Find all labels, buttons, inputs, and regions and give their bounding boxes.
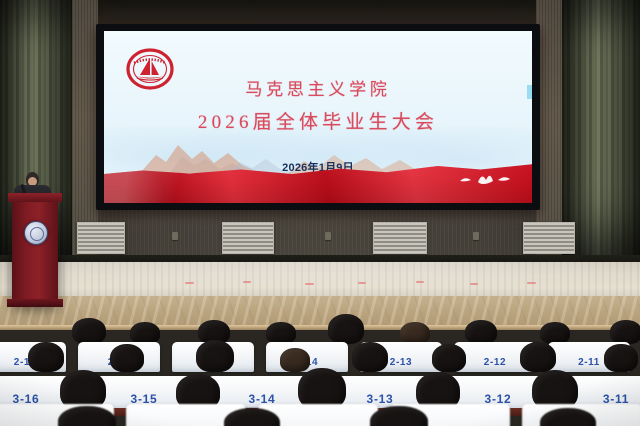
floor-tape-mark [185,282,194,284]
wall-vent [222,222,274,254]
floor-tape-mark [470,283,478,285]
podium [12,199,58,303]
wall-vent [77,222,125,254]
wall-vent [523,222,575,254]
slide-event-title: 2026届全体毕业生大会 [104,107,532,134]
audience-seating: 2-17 2-16 2-15 2-14 2-13 2-12 2-11 [0,300,640,426]
podium-crest-icon [24,221,48,245]
seat-row-foreground [0,404,640,426]
stage-floor [0,262,640,298]
podium-top [8,193,62,202]
screen-edge-glow [527,85,532,99]
floor-tape-mark [243,281,251,283]
led-screen-bezel: 马克思主义学院 2026届全体毕业生大会 2026年1月9日 [96,24,540,210]
presentation-slide: 马克思主义学院 2026届全体毕业生大会 2026年1月9日 [104,31,532,203]
floor-tape-mark [527,282,536,284]
floor-tape-mark [416,281,424,283]
slide-organization-title: 马克思主义学院 [104,75,532,100]
auditorium-photo: 马克思主义学院 2026届全体毕业生大会 2026年1月9日 [0,0,640,426]
wall-plate [172,232,178,240]
floor-tape-mark [305,283,314,285]
floor-tape-mark [358,282,366,284]
wall-plate [473,232,479,240]
wall-vent [373,222,427,254]
dove-icon [452,168,514,193]
wall-plate [325,232,331,240]
stage-floor-sheen [0,262,640,298]
